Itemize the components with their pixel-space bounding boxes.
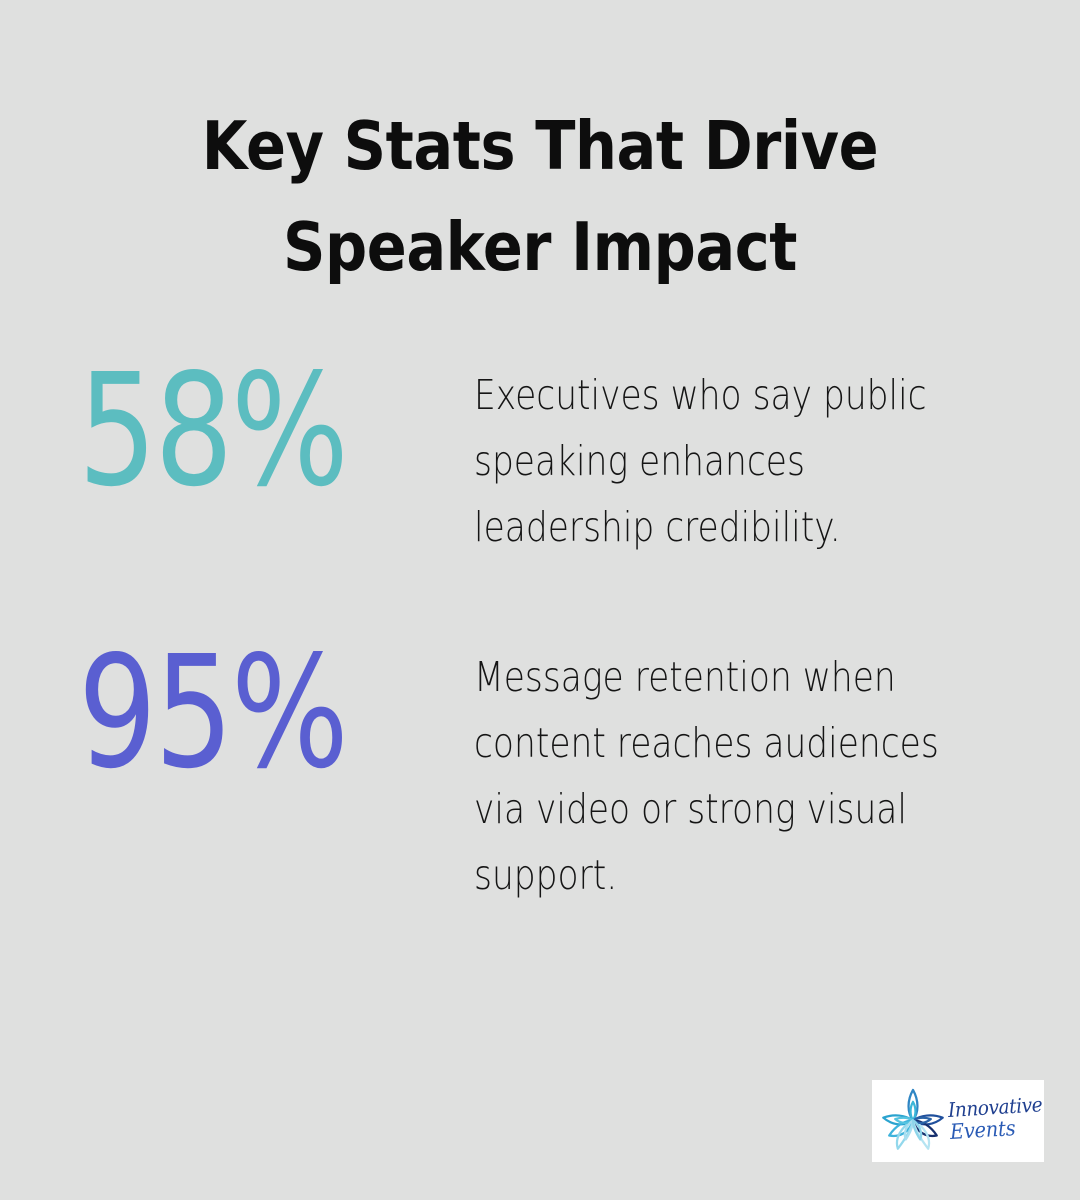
- brand-line-1: Innovative: [947, 1094, 1042, 1120]
- brand-wordmark: Innovative Events: [946, 1100, 1051, 1144]
- stat-description-2: Message retention when content reaches a…: [474, 644, 983, 908]
- stat-value-2: 95%: [78, 638, 401, 788]
- stat-value-1: 58%: [78, 356, 401, 506]
- stats-list: 58% Executives who say public speaking e…: [0, 362, 1080, 908]
- lotus-flower-icon: [880, 1086, 946, 1156]
- title-line-2: Speaker Impact: [65, 197, 1015, 298]
- infographic-canvas: Key Stats That Drive Speaker Impact 58% …: [0, 0, 1080, 1200]
- page-title: Key Stats That Drive Speaker Impact: [0, 96, 1080, 298]
- stat-description-1: Executives who say public speaking enhan…: [474, 362, 983, 560]
- brand-line-2: Events: [949, 1116, 1042, 1143]
- brand-logo: Innovative Events: [872, 1080, 1044, 1162]
- stat-row: 95% Message retention when content reach…: [0, 644, 1080, 908]
- title-line-1: Key Stats That Drive: [65, 96, 1015, 197]
- stat-row: 58% Executives who say public speaking e…: [0, 362, 1080, 560]
